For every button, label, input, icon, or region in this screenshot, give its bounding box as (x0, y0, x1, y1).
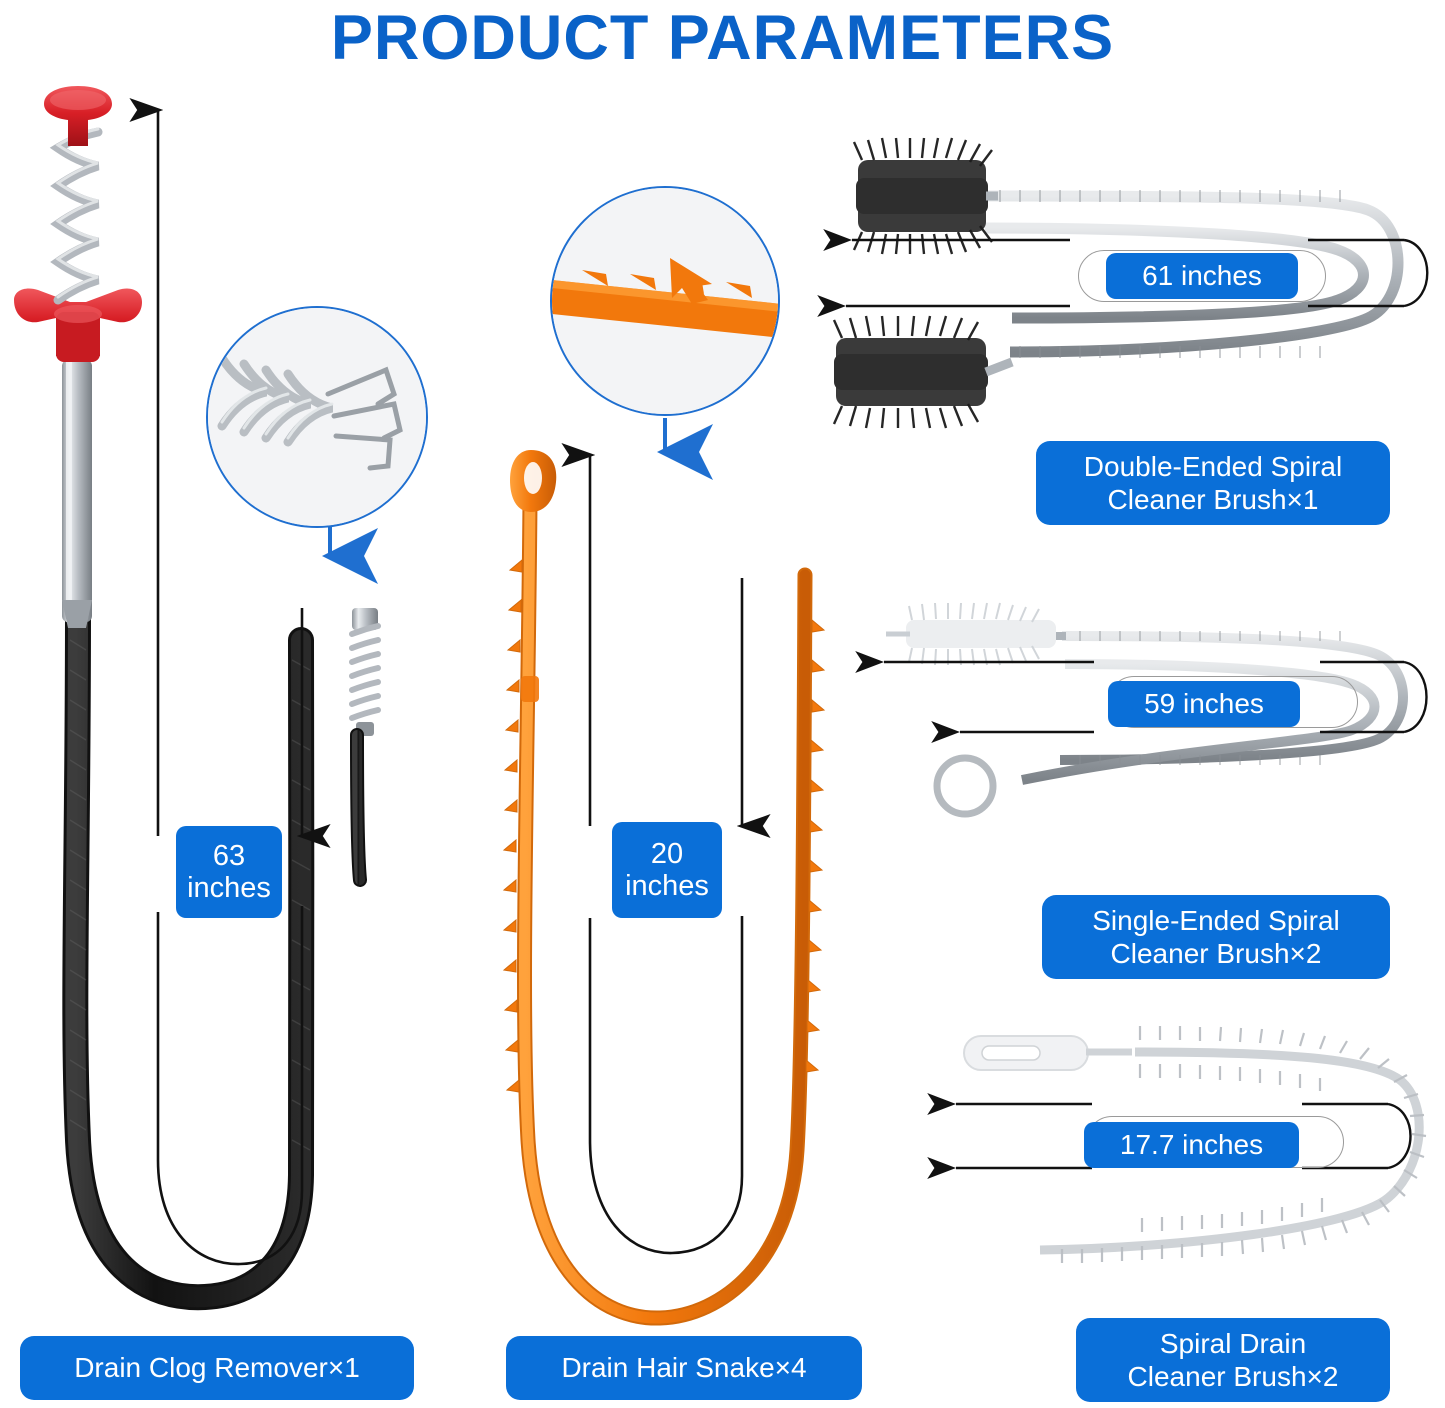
page-title: PRODUCT PARAMETERS (0, 2, 1445, 74)
product-label-drain-hair-snake: Drain Hair Snake×4 (506, 1336, 862, 1400)
product-label-spiral-drain-cleaner-brush: Spiral Drain Cleaner Brush×2 (1076, 1318, 1390, 1402)
product-label-single-ended-spiral-brush: Single-Ended Spiral Cleaner Brush×2 (1042, 895, 1390, 979)
measure-badge-single-ended-brush: 59 inches (1108, 681, 1300, 727)
measure-badge-drain-clog-remover: 63 inches (176, 826, 282, 918)
zoom-callout-claw-grabber (206, 306, 428, 528)
measure-badge-drain-hair-snake: 20 inches (612, 822, 722, 918)
product-label-double-ended-spiral-brush: Double-Ended Spiral Cleaner Brush×1 (1036, 441, 1390, 525)
product-label-drain-clog-remover: Drain Clog Remover×1 (20, 1336, 414, 1400)
product-parameters-diagram: PRODUCT PARAMETERS (0, 0, 1445, 1408)
zoom-callout-barbed-edge (550, 186, 780, 416)
measure-badge-spiral-drain-brush: 17.7 inches (1084, 1122, 1299, 1168)
measure-badge-double-ended-brush: 61 inches (1106, 253, 1298, 299)
